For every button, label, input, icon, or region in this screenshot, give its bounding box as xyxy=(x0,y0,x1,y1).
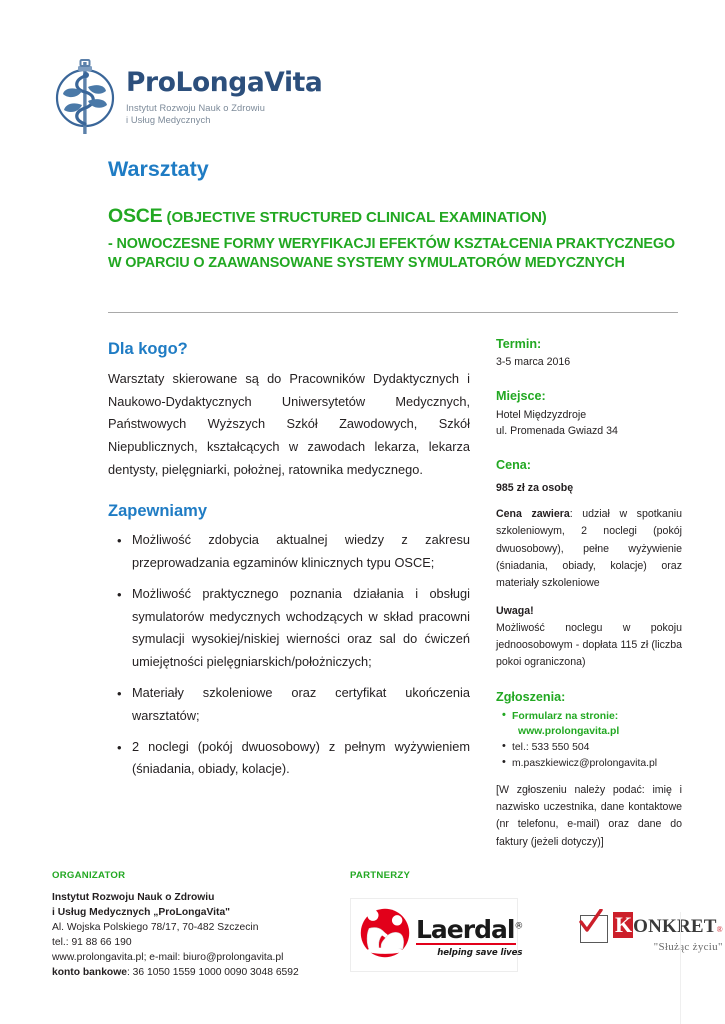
partner-logo-laerdal: Laerdal® helping save lives xyxy=(350,898,518,972)
org-bank-line: konto bankowe: 36 1050 1559 1000 0090 30… xyxy=(52,965,352,980)
partnerzy-label: PARTNERZY xyxy=(350,870,690,881)
laerdal-trademark-icon: ® xyxy=(514,921,522,931)
brand-wordmark-group: ProLongaVita Instytut Rozwoju Nauk o Zdr… xyxy=(126,58,322,126)
page-title: OSCE (OBJECTIVE STRUCTURED CLINICAL EXAM… xyxy=(108,205,680,228)
org-bank-value: : 36 1050 1559 1000 0090 3048 6592 xyxy=(127,967,299,978)
org-line-2: i Usług Medycznych „ProLongaVita" xyxy=(52,905,352,920)
footer-organizer-block: ORGANIZATOR Instytut Rozwoju Nauk o Zdro… xyxy=(52,870,352,980)
title-expansion: (OBJECTIVE STRUCTURED CLINICAL EXAMINATI… xyxy=(167,209,547,226)
checkmark-box-icon xyxy=(580,915,608,943)
partner-logo-konkret: KONKRET® "Służąc życiu" xyxy=(580,898,723,953)
partner-divider xyxy=(680,912,681,1024)
laerdal-wordmark: Laerdal® xyxy=(416,918,522,942)
cena-zawiera-label: Cena zawiera xyxy=(496,508,570,520)
laerdal-tagline: helping save lives xyxy=(416,948,522,958)
brand-name: ProLongaVita xyxy=(126,70,322,97)
zgloszenia-list: Formularz na stronie: www.prolongavita.p… xyxy=(496,709,682,771)
dla-kogo-body: Warsztaty skierowane są do Pracowników D… xyxy=(108,368,470,482)
laerdal-accent-rule xyxy=(416,943,516,945)
zgloszenia-form-label: Formularz na stronie: xyxy=(512,711,618,722)
organizator-label: ORGANIZATOR xyxy=(52,870,352,881)
laerdal-wordmark-text: Laerdal xyxy=(416,915,514,944)
main-left-column: Dla kogo? Warsztaty skierowane są do Pra… xyxy=(108,340,470,781)
org-line-3: Al. Wojska Polskiego 78/17, 70-482 Szcze… xyxy=(52,920,352,935)
zgloszenia-form-url[interactable]: www.prolongavita.pl xyxy=(512,724,682,739)
list-item: 2 noclegi (pokój dwuosobowy) z pełnym wy… xyxy=(132,736,470,782)
list-item: Możliwość praktycznego poznania działani… xyxy=(132,583,470,674)
caduceus-circle-icon xyxy=(52,58,118,136)
cena-zawiera-paragraph: Cena zawiera: udział w spotkaniu szkolen… xyxy=(496,506,682,592)
org-line-5[interactable]: www.prolongavita.pl; e-mail: biuro@prolo… xyxy=(52,950,352,965)
main-right-column: Termin: 3-5 marca 2016 Miejsce: Hotel Mi… xyxy=(496,336,682,851)
title-acronym: OSCE xyxy=(108,205,162,227)
termin-value: 3-5 marca 2016 xyxy=(496,354,682,370)
laerdal-text-group: Laerdal® helping save lives xyxy=(416,912,522,959)
header-divider xyxy=(108,312,678,313)
list-item: Możliwość zdobycia aktualnej wiedzy z za… xyxy=(132,529,470,575)
page-title-kicker: Warsztaty xyxy=(108,158,680,182)
laerdal-cpr-logo-icon xyxy=(357,906,413,965)
zgloszenia-note: [W zgłoszeniu należy podać: imię i nazwi… xyxy=(496,782,682,851)
uwaga-text: Możliwość noclegu w pokoju jednoosobowym… xyxy=(496,620,682,671)
konkret-wordmark: KONKRET® xyxy=(613,912,723,938)
cena-zawiera-text: : udział w spotkaniu szkoleniowym, 2 noc… xyxy=(496,508,682,589)
footer-partners-block: PARTNERZY xyxy=(350,870,690,890)
konkret-registered-icon: ® xyxy=(717,925,723,934)
zgloszenia-email[interactable]: m.paszkiewicz@prolongavita.pl xyxy=(512,756,682,771)
zapewniamy-list: Możliwość zdobycia aktualnej wiedzy z za… xyxy=(108,529,470,781)
miejsce-line-2: ul. Promenada Gwiazd 34 xyxy=(496,423,682,439)
org-line-1: Instytut Rozwoju Nauk o Zdrowiu xyxy=(52,890,352,905)
page-subtitle: - NOWOCZESNE FORMY WERYFIKACJI EFEKTÓW K… xyxy=(108,235,680,273)
section-heading-miejsce: Miejsce: xyxy=(496,388,682,404)
uwaga-heading: Uwaga! xyxy=(496,604,682,620)
miejsce-line-1: Hotel Międzyzdroje xyxy=(496,407,682,423)
partner-logo-row: Laerdal® helping save lives KONKRET® "Sł… xyxy=(350,898,723,972)
list-item: Materiały szkoleniowe oraz certyfikat uk… xyxy=(132,682,470,728)
org-bank-label: konto bankowe xyxy=(52,967,127,978)
konkret-text-group: KONKRET® "Służąc życiu" xyxy=(613,912,723,953)
section-heading-zapewniamy: Zapewniamy xyxy=(108,502,470,522)
brand-header: ProLongaVita Instytut Rozwoju Nauk o Zdr… xyxy=(52,58,322,136)
org-line-4: tel.: 91 88 66 190 xyxy=(52,935,352,950)
zgloszenia-form-item[interactable]: Formularz na stronie: www.prolongavita.p… xyxy=(512,709,682,739)
title-block: Warsztaty OSCE (OBJECTIVE STRUCTURED CLI… xyxy=(108,158,680,273)
brand-subtitle: Instytut Rozwoju Nauk o Zdrowiu i Usług … xyxy=(126,102,322,127)
poster-page: ProLongaVita Instytut Rozwoju Nauk o Zdr… xyxy=(0,0,725,1024)
konkret-tagline: "Służąc życiu" xyxy=(613,941,723,953)
konkret-wordmark-initial: K xyxy=(613,912,633,938)
section-heading-cena: Cena: xyxy=(496,457,682,473)
cena-value: 985 zł za osobę xyxy=(496,481,682,497)
section-heading-dla-kogo: Dla kogo? xyxy=(108,340,470,360)
section-heading-termin: Termin: xyxy=(496,336,682,352)
section-heading-zgloszenia: Zgłoszenia: xyxy=(496,689,682,705)
konkret-wordmark-rest: ONKRET xyxy=(633,917,717,936)
zgloszenia-phone[interactable]: tel.: 533 550 504 xyxy=(512,740,682,755)
